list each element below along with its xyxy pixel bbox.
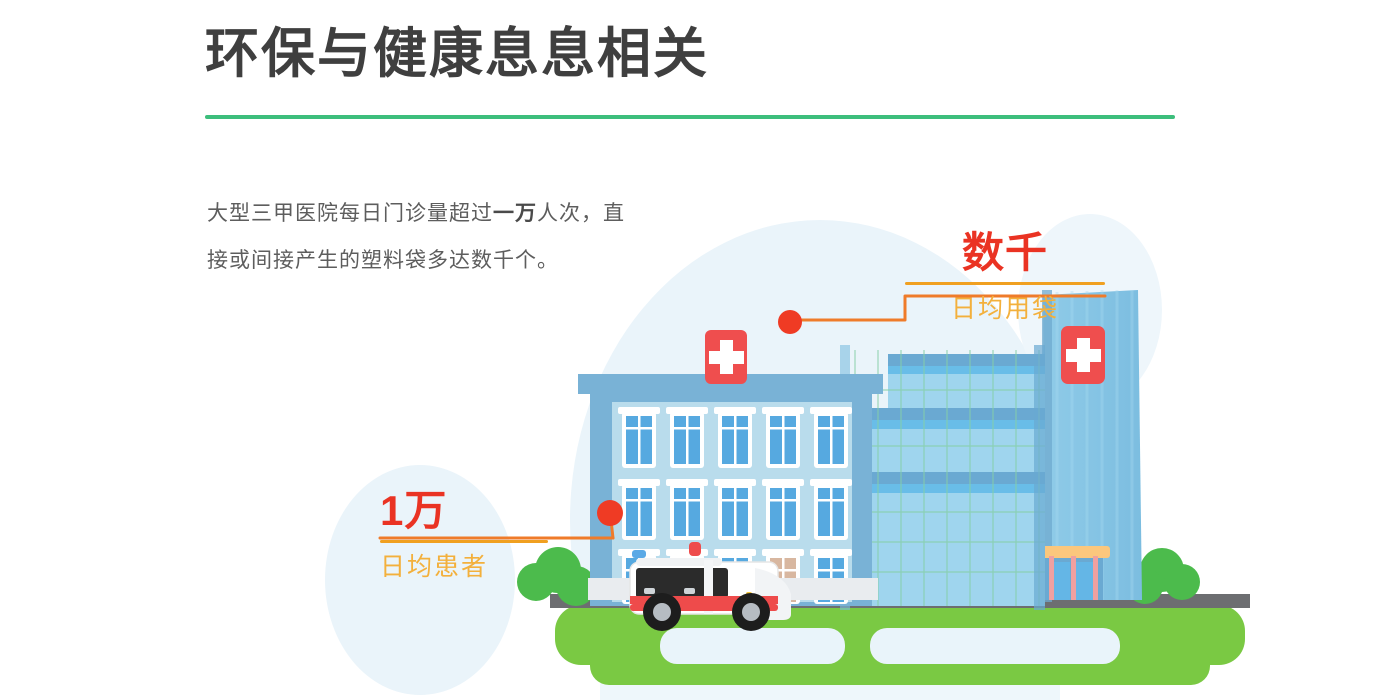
callout-thousands-value: 数千 xyxy=(905,232,1105,274)
callout-thousands-label: 日均用袋 xyxy=(905,297,1105,322)
callout-patients-label: 日均患者 xyxy=(380,555,548,580)
title-underline-rule xyxy=(205,115,1175,119)
tower-entrance xyxy=(1040,546,1110,600)
callout-thousands-rule xyxy=(905,282,1105,285)
red-cross-sign-tower xyxy=(1061,326,1105,384)
callout-patients-rule xyxy=(380,540,548,543)
callout-patients-value: 1万 xyxy=(380,490,548,532)
red-cross-sign-roof xyxy=(705,330,747,384)
callout-thousands: 数千 日均用袋 xyxy=(905,232,1105,322)
page-title: 环保与健康息息相关 xyxy=(205,25,709,84)
callout-patients: 1万 日均患者 xyxy=(380,490,548,580)
hospital-campus-illustration xyxy=(300,150,1300,700)
slide-root: 环保与健康息息相关 大型三甲医院每日门诊量超过一万人次，直接或间接产生的塑料袋多… xyxy=(0,0,1400,700)
